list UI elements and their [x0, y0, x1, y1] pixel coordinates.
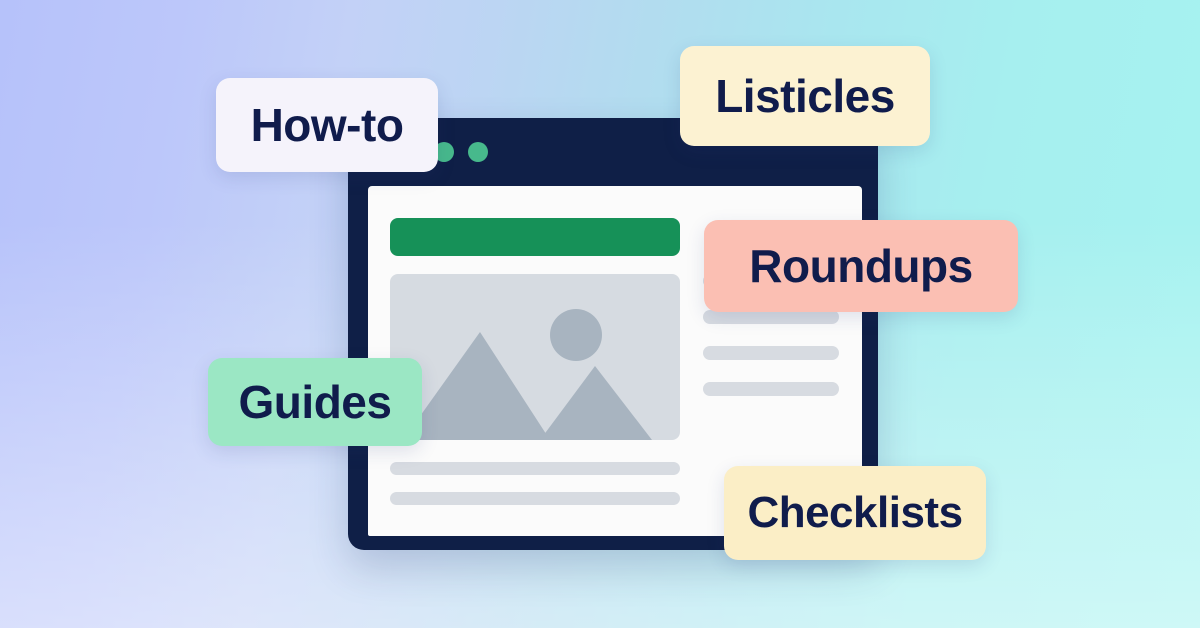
- traffic-light-dot-three[interactable]: [468, 142, 488, 162]
- image-placeholder: [390, 274, 680, 440]
- chip-how-to[interactable]: How-to: [216, 78, 438, 172]
- chip-checklists[interactable]: Checklists: [724, 466, 986, 560]
- chip-roundups[interactable]: Roundups: [704, 220, 1018, 312]
- text-placeholder-line: [703, 382, 839, 396]
- text-placeholder-line: [390, 492, 680, 505]
- image-placeholder-icon: [390, 274, 680, 440]
- chip-listicles[interactable]: Listicles: [680, 46, 930, 146]
- chip-guides[interactable]: Guides: [208, 358, 422, 446]
- illustration-canvas: How-to Listicles Roundups Guides Checkli…: [0, 0, 1200, 628]
- text-placeholder-line: [703, 346, 839, 360]
- bottom-text-placeholder-lines: [390, 462, 680, 505]
- text-placeholder-line: [390, 462, 680, 475]
- headline-placeholder-bar: [390, 218, 680, 256]
- text-placeholder-line: [703, 310, 839, 324]
